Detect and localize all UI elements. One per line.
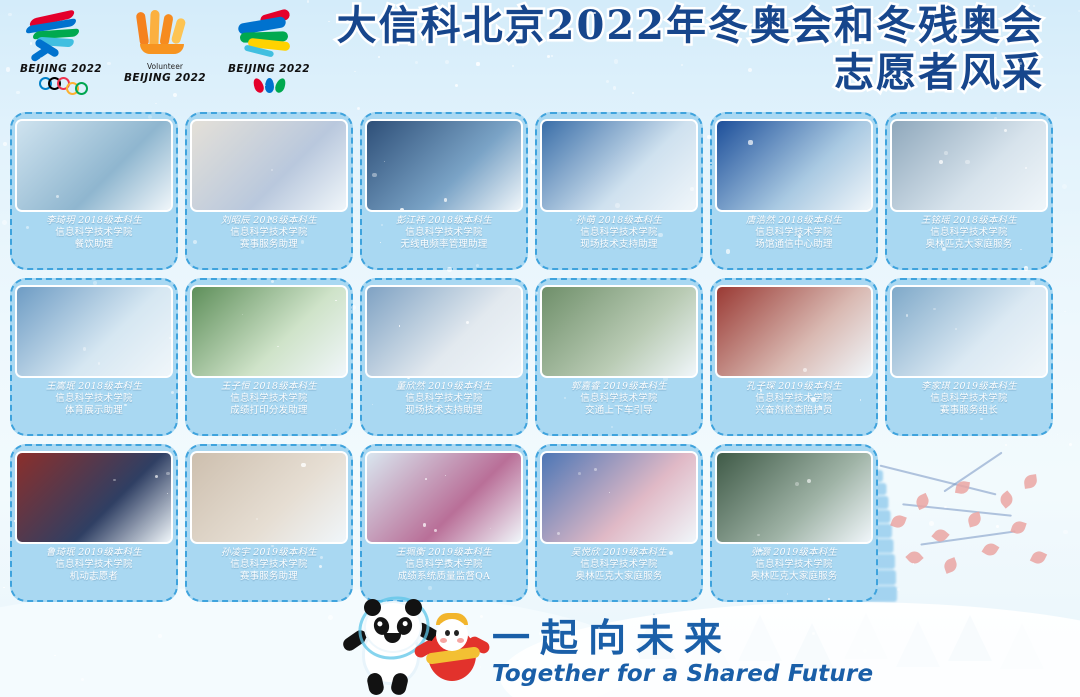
- volunteer-photo: [717, 453, 871, 542]
- olympic-emblem-glyph: [18, 10, 104, 62]
- paralympic-wordmark: BEIJING 2022: [226, 63, 312, 75]
- volunteer-caption: 孙萌 2018级本科生信息科学技术学院现场技术支持助理: [576, 215, 662, 251]
- photo-surface: [192, 453, 346, 542]
- volunteer-school: 信息科学技术学院: [46, 393, 142, 405]
- volunteer-role: 餐饮助理: [46, 239, 142, 251]
- volunteer-photo: [717, 287, 871, 376]
- volunteer-card[interactable]: 郭嘉睿 2019级本科生信息科学技术学院交通上下车引导: [535, 278, 703, 436]
- volunteer-name-line: 王铭瑶 2018级本科生: [921, 215, 1017, 227]
- volunteer-year: 2019级本科生: [603, 381, 667, 392]
- volunteer-name-line: 孙凌宇 2019级本科生: [221, 547, 317, 559]
- poster-title-line-2: 志愿者风采: [337, 53, 1044, 94]
- photo-surface: [542, 453, 696, 542]
- photo-surface: [192, 121, 346, 210]
- volunteer-name-line: 唐浩然 2018级本科生: [746, 215, 842, 227]
- volunteer-role: 兴奋剂检查陪护员: [746, 405, 842, 417]
- volunteer-name: 孙凌宇: [221, 547, 250, 558]
- volunteer-caption: 孙凌宇 2019级本科生信息科学技术学院赛事服务助理: [221, 547, 317, 583]
- paralympic-agitos-icon: [226, 78, 312, 93]
- volunteer-photo: [192, 453, 346, 542]
- volunteer-role: 现场技术支持助理: [576, 239, 662, 251]
- volunteer-caption: 孔子琛 2019级本科生信息科学技术学院兴奋剂检查陪护员: [746, 381, 842, 417]
- volunteer-photo: [192, 287, 346, 376]
- volunteer-name: 张灏: [751, 547, 770, 558]
- volunteer-caption: 董欣然 2019级本科生信息科学技术学院现场技术支持助理: [396, 381, 492, 417]
- volunteer-role: 无线电频率管理助理: [396, 239, 492, 251]
- volunteer-year: 2019级本科生: [603, 547, 667, 558]
- volunteer-school: 信息科学技术学院: [396, 393, 492, 405]
- volunteer-year: 2018级本科生: [598, 215, 662, 226]
- slogan-chinese: 一起向未来: [492, 619, 873, 657]
- volunteer-name-line: 吴悦欣 2019级本科生: [571, 547, 667, 559]
- volunteer-school: 信息科学技术学院: [921, 227, 1017, 239]
- volunteer-year: 2018级本科生: [428, 215, 492, 226]
- volunteer-role: 奥林匹克大家庭服务: [921, 239, 1017, 251]
- volunteer-name-line: 王子恒 2018级本科生: [221, 381, 317, 393]
- photo-surface: [367, 121, 521, 210]
- photo-surface: [192, 287, 346, 376]
- volunteer-card[interactable]: 王子恒 2018级本科生信息科学技术学院成绩打印分发助理: [185, 278, 353, 436]
- volunteer-role: 场馆通信中心助理: [746, 239, 842, 251]
- volunteer-card[interactable]: 唐浩然 2018级本科生信息科学技术学院场馆通信中心助理: [710, 112, 878, 270]
- volunteer-name-line: 李琦玥 2018级本科生: [46, 215, 142, 227]
- volunteer-caption: 张灏 2019级本科生信息科学技术学院奥林匹克大家庭服务: [750, 547, 837, 583]
- volunteer-year: 2018级本科生: [78, 215, 142, 226]
- photo-surface: [542, 287, 696, 376]
- beijing-2022-olympic-logo: BEIJING 2022: [18, 10, 104, 102]
- volunteer-card[interactable]: 王铭瑶 2018级本科生信息科学技术学院奥林匹克大家庭服务: [885, 112, 1053, 270]
- volunteer-name-line: 李家琪 2019级本科生: [921, 381, 1017, 393]
- volunteer-photo: [17, 121, 171, 210]
- paralympic-emblem-glyph: [226, 10, 312, 62]
- volunteer-label: Volunteer: [122, 62, 208, 71]
- volunteer-caption: 李家琪 2019级本科生信息科学技术学院赛事服务组长: [921, 381, 1017, 417]
- volunteer-caption: 王嵩珉 2018级本科生信息科学技术学院体育展示助理: [46, 381, 142, 417]
- volunteer-year: 2019级本科生: [253, 547, 317, 558]
- volunteer-role: 现场技术支持助理: [396, 405, 492, 417]
- volunteer-name-line: 张灏 2019级本科生: [750, 547, 837, 559]
- volunteer-card[interactable]: 董欣然 2019级本科生信息科学技术学院现场技术支持助理: [360, 278, 528, 436]
- volunteer-year: 2019级本科生: [428, 547, 492, 558]
- volunteer-name-line: 孔子琛 2019级本科生: [746, 381, 842, 393]
- volunteer-name: 王珮衡: [396, 547, 425, 558]
- volunteer-name: 王嵩珉: [46, 381, 75, 392]
- volunteer-wordmark: BEIJING 2022: [122, 72, 208, 84]
- volunteer-card-grid: 李琦玥 2018级本科生信息科学技术学院餐饮助理刘昭辰 2018级本科生信息科学…: [10, 112, 1070, 602]
- volunteer-role: 奥林匹克大家庭服务: [750, 571, 837, 583]
- beijing-2022-volunteer-logo: Volunteer BEIJING 2022: [122, 10, 208, 102]
- photo-surface: [17, 287, 171, 376]
- volunteer-school: 信息科学技术学院: [46, 559, 142, 571]
- volunteer-name: 唐浩然: [746, 215, 775, 226]
- volunteer-card[interactable]: 王嵩珉 2018级本科生信息科学技术学院体育展示助理: [10, 278, 178, 436]
- volunteer-role: 赛事服务组长: [921, 405, 1017, 417]
- volunteer-name: 彭江祎: [396, 215, 425, 226]
- volunteer-year: 2019级本科生: [773, 547, 837, 558]
- volunteer-role: 机动志愿者: [46, 571, 142, 583]
- volunteer-card[interactable]: 彭江祎 2018级本科生信息科学技术学院无线电频率管理助理: [360, 112, 528, 270]
- volunteer-name: 郭嘉睿: [571, 381, 600, 392]
- volunteer-photo: [892, 121, 1046, 210]
- volunteer-caption: 王铭瑶 2018级本科生信息科学技术学院奥林匹克大家庭服务: [921, 215, 1017, 251]
- olympic-rings-icon: [18, 77, 104, 95]
- volunteer-caption: 唐浩然 2018级本科生信息科学技术学院场馆通信中心助理: [746, 215, 842, 251]
- volunteer-name-line: 鲁琦珉 2019级本科生: [46, 547, 142, 559]
- snow-dot: [2, 220, 7, 225]
- volunteer-card[interactable]: 李家琪 2019级本科生信息科学技术学院赛事服务组长: [885, 278, 1053, 436]
- volunteer-name: 孔子琛: [746, 381, 775, 392]
- volunteer-card[interactable]: 孙萌 2018级本科生信息科学技术学院现场技术支持助理: [535, 112, 703, 270]
- volunteer-year: 2018级本科生: [253, 215, 317, 226]
- volunteer-caption: 鲁琦珉 2019级本科生信息科学技术学院机动志愿者: [46, 547, 142, 583]
- volunteer-school: 信息科学技术学院: [46, 227, 142, 239]
- volunteer-role: 成绩打印分发助理: [221, 405, 317, 417]
- volunteer-school: 信息科学技术学院: [221, 227, 317, 239]
- volunteer-photo: [717, 121, 871, 210]
- photo-surface: [17, 453, 171, 542]
- poster-title-line-1: 大信科北京2022年冬奥会和冬残奥会: [337, 6, 1044, 47]
- volunteer-school: 信息科学技术学院: [750, 559, 837, 571]
- volunteer-card[interactable]: 孙凌宇 2019级本科生信息科学技术学院赛事服务助理: [185, 444, 353, 602]
- volunteer-year: 2019级本科生: [78, 547, 142, 558]
- volunteer-year: 2019级本科生: [953, 381, 1017, 392]
- volunteer-school: 信息科学技术学院: [576, 227, 662, 239]
- volunteer-caption: 吴悦欣 2019级本科生信息科学技术学院奥林匹克大家庭服务: [571, 547, 667, 583]
- volunteer-role: 交通上下车引导: [571, 405, 667, 417]
- volunteer-photo: [367, 121, 521, 210]
- logo-group: BEIJING 2022 Volunteer: [18, 10, 312, 102]
- volunteer-role: 成绩系统质量监督QA: [396, 571, 492, 583]
- volunteer-card[interactable]: 鲁琦珉 2019级本科生信息科学技术学院机动志愿者: [10, 444, 178, 602]
- volunteer-name-line: 郭嘉睿 2019级本科生: [571, 381, 667, 393]
- volunteer-card[interactable]: 李琦玥 2018级本科生信息科学技术学院餐饮助理: [10, 112, 178, 270]
- volunteer-year: 2018级本科生: [253, 381, 317, 392]
- slogan-english: Together for a Shared Future: [492, 661, 873, 687]
- volunteer-year: 2018级本科生: [778, 215, 842, 226]
- volunteer-photo: [542, 287, 696, 376]
- volunteer-name: 孙萌: [576, 215, 595, 226]
- volunteer-school: 信息科学技术学院: [746, 227, 842, 239]
- volunteer-caption: 王子恒 2018级本科生信息科学技术学院成绩打印分发助理: [221, 381, 317, 417]
- volunteer-school: 信息科学技术学院: [396, 227, 492, 239]
- olympic-wordmark: BEIJING 2022: [18, 63, 104, 75]
- beijing-2022-paralympic-logo: BEIJING 2022: [226, 10, 312, 102]
- volunteer-photo: [17, 453, 171, 542]
- poster-title-block: 大信科北京2022年冬奥会和冬残奥会 志愿者风采: [337, 6, 1044, 94]
- volunteer-photo: [17, 287, 171, 376]
- photo-surface: [17, 121, 171, 210]
- volunteer-photo: [367, 453, 521, 542]
- volunteer-name: 王铭瑶: [921, 215, 950, 226]
- volunteer-photo: [892, 287, 1046, 376]
- volunteer-name-line: 王珮衡 2019级本科生: [396, 547, 492, 559]
- volunteer-school: 信息科学技术学院: [571, 559, 667, 571]
- volunteer-name-line: 孙萌 2018级本科生: [576, 215, 662, 227]
- volunteer-photo: [367, 287, 521, 376]
- poster-canvas: BEIJING 2022 Volunteer: [0, 0, 1080, 697]
- volunteer-caption: 刘昭辰 2018级本科生信息科学技术学院赛事服务助理: [221, 215, 317, 251]
- volunteer-name-line: 董欣然 2019级本科生: [396, 381, 492, 393]
- volunteer-caption: 彭江祎 2018级本科生信息科学技术学院无线电频率管理助理: [396, 215, 492, 251]
- photo-surface: [542, 121, 696, 210]
- volunteer-role: 赛事服务助理: [221, 239, 317, 251]
- slogan-block: 一起向未来 Together for a Shared Future: [492, 619, 873, 687]
- volunteer-year: 2019级本科生: [778, 381, 842, 392]
- volunteer-school: 信息科学技术学院: [571, 393, 667, 405]
- photo-surface: [892, 287, 1046, 376]
- photo-surface: [892, 121, 1046, 210]
- photo-surface: [717, 121, 871, 210]
- photo-surface: [717, 287, 871, 376]
- volunteer-photo: [542, 453, 696, 542]
- volunteer-card[interactable]: 王珮衡 2019级本科生信息科学技术学院成绩系统质量监督QA: [360, 444, 528, 602]
- volunteer-card[interactable]: 张灏 2019级本科生信息科学技术学院奥林匹克大家庭服务: [710, 444, 878, 602]
- poster-footer: 一起向未来 Together for a Shared Future: [0, 605, 1080, 697]
- photo-surface: [717, 453, 871, 542]
- volunteer-school: 信息科学技术学院: [221, 559, 317, 571]
- volunteer-photo: [192, 121, 346, 210]
- volunteer-name: 李家琪: [921, 381, 950, 392]
- volunteer-name-line: 彭江祎 2018级本科生: [396, 215, 492, 227]
- volunteer-card[interactable]: 孔子琛 2019级本科生信息科学技术学院兴奋剂检查陪护员: [710, 278, 878, 436]
- volunteer-name-line: 刘昭辰 2018级本科生: [221, 215, 317, 227]
- volunteer-year: 2019级本科生: [428, 381, 492, 392]
- volunteer-name-line: 王嵩珉 2018级本科生: [46, 381, 142, 393]
- volunteer-caption: 郭嘉睿 2019级本科生信息科学技术学院交通上下车引导: [571, 381, 667, 417]
- volunteer-name: 吴悦欣: [571, 547, 600, 558]
- volunteer-card[interactable]: 吴悦欣 2019级本科生信息科学技术学院奥林匹克大家庭服务: [535, 444, 703, 602]
- volunteer-role: 赛事服务助理: [221, 571, 317, 583]
- volunteer-caption: 王珮衡 2019级本科生信息科学技术学院成绩系统质量监督QA: [396, 547, 492, 583]
- poster-header: BEIJING 2022 Volunteer: [0, 0, 1080, 112]
- volunteer-year: 2018级本科生: [78, 381, 142, 392]
- mascot-group: [340, 611, 490, 691]
- snow-dot: [3, 142, 7, 146]
- volunteer-role: 体育展示助理: [46, 405, 142, 417]
- volunteer-emblem-glyph: [122, 10, 208, 62]
- volunteer-name: 董欣然: [396, 381, 425, 392]
- volunteer-school: 信息科学技术学院: [746, 393, 842, 405]
- volunteer-name: 李琦玥: [46, 215, 75, 226]
- volunteer-school: 信息科学技术学院: [221, 393, 317, 405]
- volunteer-photo: [542, 121, 696, 210]
- photo-surface: [367, 287, 521, 376]
- volunteer-role: 奥林匹克大家庭服务: [571, 571, 667, 583]
- volunteer-year: 2018级本科生: [953, 215, 1017, 226]
- volunteer-school: 信息科学技术学院: [921, 393, 1017, 405]
- photo-surface: [367, 453, 521, 542]
- volunteer-caption: 李琦玥 2018级本科生信息科学技术学院餐饮助理: [46, 215, 142, 251]
- volunteer-name: 鲁琦珉: [46, 547, 75, 558]
- volunteer-name: 王子恒: [221, 381, 250, 392]
- volunteer-card[interactable]: 刘昭辰 2018级本科生信息科学技术学院赛事服务助理: [185, 112, 353, 270]
- volunteer-school: 信息科学技术学院: [396, 559, 492, 571]
- volunteer-name: 刘昭辰: [221, 215, 250, 226]
